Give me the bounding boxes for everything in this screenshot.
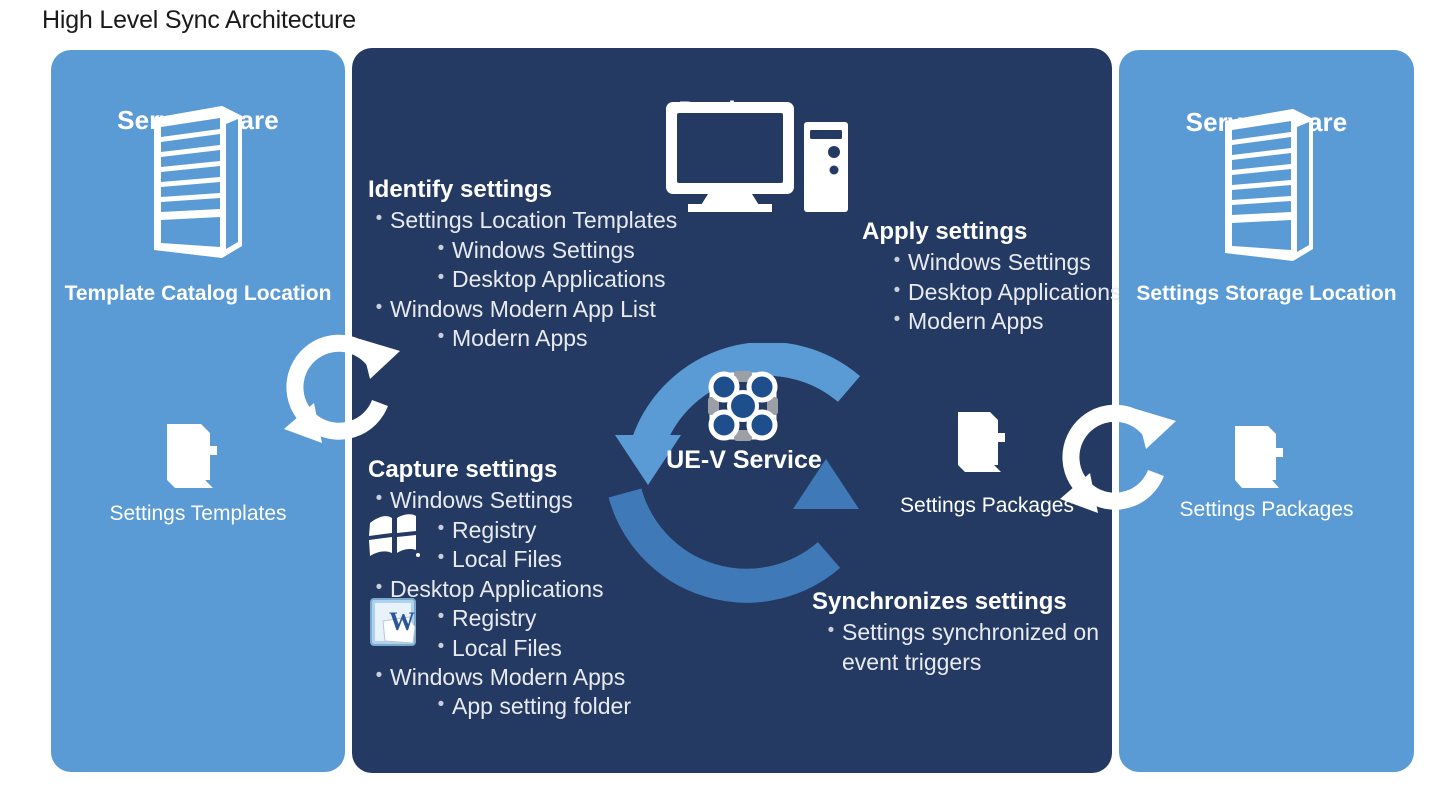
identify-settings-title: Identify settings [368,176,698,204]
list-item: •Settings Location Templates [368,206,698,235]
svg-text:W: W [389,607,415,636]
list-item: •Desktop Applications [430,265,698,294]
bullet-icon: • [430,265,452,291]
bullet-icon: • [430,634,452,660]
bullet-icon: • [430,236,452,262]
bullet-icon: • [368,663,390,689]
list-item-label: Registry [452,516,708,545]
sync-arrows-icon [1058,403,1178,519]
list-item-label: App setting folder [452,692,708,721]
bullet-icon: • [886,307,908,333]
synchronizes-settings-title: Synchronizes settings [812,588,1112,616]
folder-icon [1229,422,1299,498]
bullet-icon: • [430,545,452,571]
bullet-icon: • [430,604,452,630]
list-item: •Desktop Applications [886,278,1127,307]
server-rack-icon [148,102,248,262]
list-item-label: Settings synchronized on event triggers [842,618,1102,677]
list-item-label: Windows Settings [908,248,1127,277]
list-item-label: Modern Apps [452,324,698,353]
bullet-icon: • [886,248,908,274]
identify-settings-block: Identify settings •Settings Location Tem… [368,176,698,354]
left-caption-secondary: Settings Templates [51,502,345,526]
capture-settings-block: Capture settings •Windows Settings •Regi… [368,456,708,722]
apply-settings-title: Apply settings [862,218,1127,246]
bullet-icon: • [820,618,842,644]
list-item: •Registry [430,516,708,545]
list-item-label: Local Files [452,634,708,663]
right-caption-primary: Settings Storage Location [1119,282,1414,306]
page-title: High Level Sync Architecture [42,6,356,35]
list-item-label: Settings Location Templates [390,206,698,235]
list-item: •Windows Modern App List [368,295,698,324]
bullet-icon: • [430,692,452,718]
list-item-label: Desktop Applications [390,575,708,604]
list-item: •Windows Settings [430,236,698,265]
bullet-icon: • [368,206,390,232]
sync-arrows-icon [282,333,402,449]
microsoft-word-icon: W [369,597,421,649]
folder-icon [952,408,1020,482]
capture-settings-title: Capture settings [368,456,708,484]
center-desktop-panel: Desktop [352,48,1112,773]
bullet-icon: • [886,278,908,304]
list-item-label: Windows Modern App List [390,295,698,324]
diagram-canvas: High Level Sync Architecture Server Shar… [0,0,1436,805]
list-item-label: Windows Modern Apps [390,663,708,692]
list-item-label: Registry [452,604,708,633]
apply-settings-block: Apply settings •Windows Settings •Deskto… [862,218,1127,337]
list-item: •Settings synchronized on event triggers [820,618,1112,677]
windows-logo-icon [366,509,422,561]
list-item-label: Local Files [452,545,708,574]
list-item-label: Desktop Applications [452,265,698,294]
bullet-icon: • [430,324,452,350]
bullet-icon: • [368,295,390,321]
ue-v-service-logo-icon [697,360,789,452]
left-caption-primary: Template Catalog Location [51,282,345,306]
list-item-label: Windows Settings [452,236,698,265]
list-item: •Windows Modern Apps [368,663,708,692]
list-item-label: Windows Settings [390,486,708,515]
list-item: •Modern Apps [430,324,698,353]
server-rack-icon [1219,105,1319,265]
list-item: •Registry [430,604,708,633]
list-item: •Modern Apps [886,307,1127,336]
list-item: •App setting folder [430,692,708,721]
folder-icon [161,420,233,498]
list-item-label: Desktop Applications [908,278,1127,307]
list-item: •Local Files [430,634,708,663]
bullet-icon: • [430,516,452,542]
list-item: •Local Files [430,545,708,574]
synchronizes-settings-block: Synchronizes settings •Settings synchron… [812,588,1112,677]
list-item-label: Modern Apps [908,307,1127,336]
list-item: •Windows Settings [886,248,1127,277]
